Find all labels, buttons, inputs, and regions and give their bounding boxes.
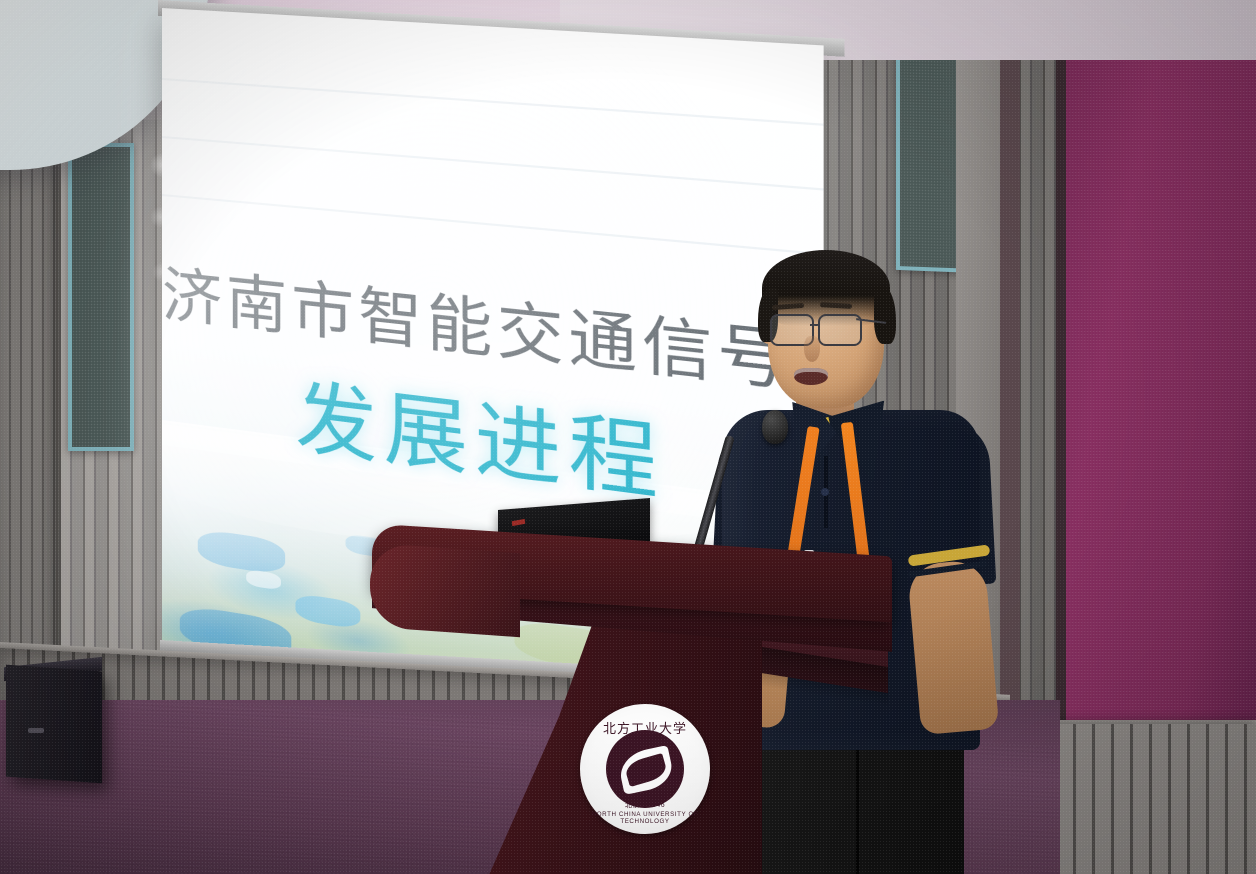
university-logo-year: 北京 · 1946: [580, 800, 710, 810]
photo-canvas: 济南市智能交通信号控制 发展进程 演讲人：刘智勇: [0, 0, 1256, 874]
lectern: 北方工业大学 北京 · 1946 NORTH CHINA UNIVERSITY …: [372, 532, 892, 874]
polo-button: [821, 488, 829, 496]
ceiling-spot-light: [152, 262, 172, 282]
eyeglasses-bridge: [810, 324, 820, 326]
ceiling-spot-light: [150, 152, 176, 178]
acoustic-panel-left: [68, 143, 134, 451]
lectern-rounded-lip: [370, 543, 520, 637]
microphone-head-icon[interactable]: [762, 410, 788, 444]
presenter-nose: [804, 336, 820, 362]
acoustic-panel-core: [72, 147, 130, 447]
university-logo: 北方工业大学 北京 · 1946 NORTH CHINA UNIVERSITY …: [580, 704, 710, 834]
right-pillar-shadow: [1000, 0, 1020, 730]
ceiling-spot-light: [150, 206, 172, 228]
university-logo-english-name: NORTH CHINA UNIVERSITY OF TECHNOLOGY: [580, 811, 710, 825]
university-logo-emblem-icon: [606, 730, 684, 808]
presenter-hair-side-right: [874, 286, 896, 344]
loudspeaker-badge: [28, 728, 44, 733]
presenter-mouth: [794, 368, 828, 385]
loudspeaker-cabinet: [6, 665, 102, 784]
presenter-arm-right: [907, 559, 1000, 735]
